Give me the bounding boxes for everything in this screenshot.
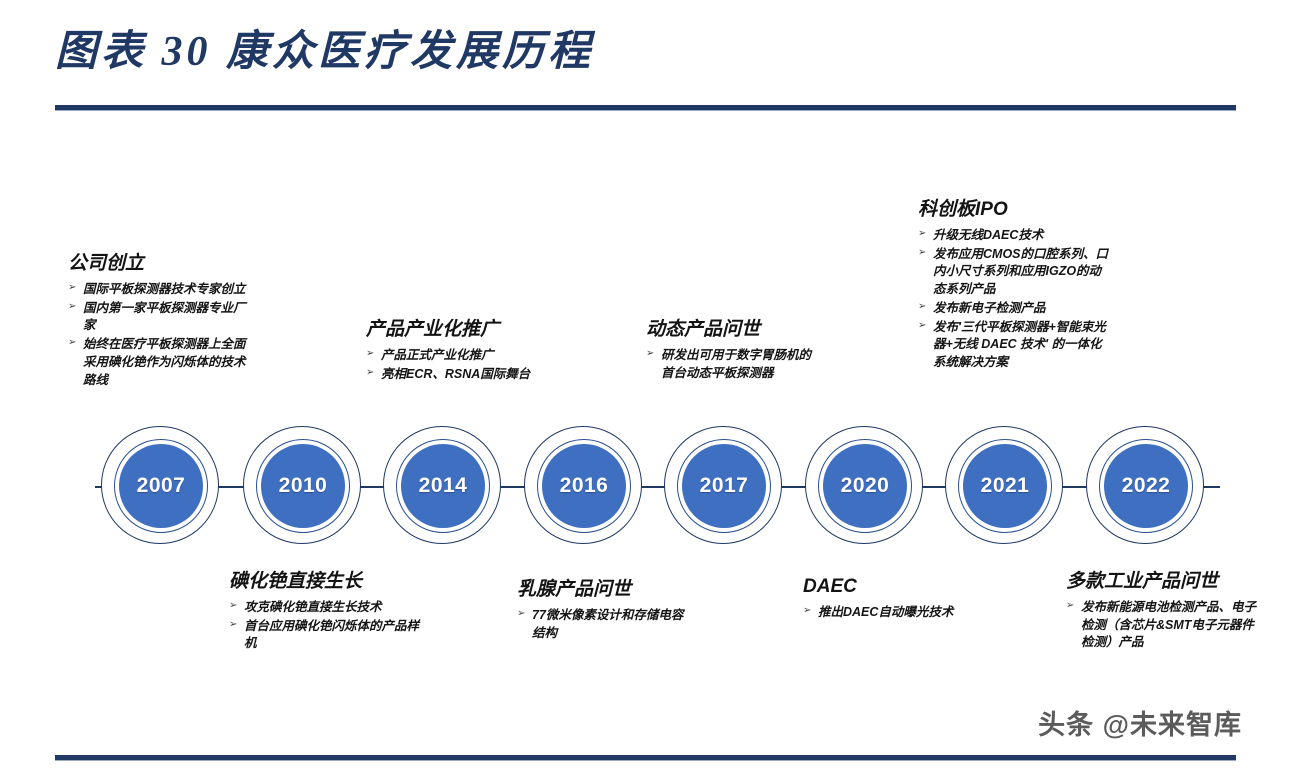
timeline-node-2007[interactable]: 2007	[101, 426, 221, 546]
annotation-bullet-list: 产品正式产业化推广亮相ECR、RSNA国际舞台	[366, 347, 551, 384]
timeline-diagram: 20072010201420162017202020212022公司创立国际平板…	[0, 0, 1290, 776]
annotation-bullet: 攻克碘化铯直接生长技术	[229, 599, 429, 617]
annotation-bullet: 研发出可用于数字胃肠机的首台动态平板探测器	[646, 347, 811, 383]
timeline-node-2022[interactable]: 2022	[1086, 426, 1206, 546]
node-disc: 2016	[542, 444, 626, 528]
annotation-title: DAEC	[803, 575, 963, 599]
bottom-divider	[55, 755, 1236, 761]
annotation-bullet: 发布新电子检测产品	[918, 300, 1108, 318]
annotation-title: 多款工业产品问世	[1066, 570, 1266, 594]
node-disc: 2014	[401, 444, 485, 528]
node-year-label: 2021	[981, 474, 1030, 498]
annotation-title: 产品产业化推广	[366, 318, 551, 342]
annotation-bullet: 发布'三代平板探测器+智能束光器+无线 DAEC 技术' 的一体化系统解决方案	[918, 319, 1108, 372]
annotation-bullet: 发布新能源电池检测产品、电子检测（含芯片&SMT电子元器件检测）产品	[1066, 599, 1266, 652]
annotation-bullet-list: 发布新能源电池检测产品、电子检测（含芯片&SMT电子元器件检测）产品	[1066, 599, 1266, 652]
watermark-label: 头条 @未来智库	[1038, 703, 1242, 742]
timeline-node-2014[interactable]: 2014	[383, 426, 503, 546]
annotation-title: 公司创立	[68, 252, 253, 276]
annotation-dynamic-product: 动态产品问世研发出可用于数字胃肠机的首台动态平板探测器	[646, 318, 811, 383]
node-year-label: 2017	[700, 474, 749, 498]
node-disc: 2010	[261, 444, 345, 528]
node-disc: 2022	[1104, 444, 1188, 528]
annotation-bullet: 始终在医疗平板探测器上全面采用碘化铯作为闪烁体的技术路线	[68, 336, 253, 389]
annotation-csi-growth: 碘化铯直接生长攻克碘化铯直接生长技术首台应用碘化铯闪烁体的产品样机	[229, 570, 429, 654]
annotation-title: 乳腺产品问世	[517, 578, 692, 602]
node-year-label: 2010	[279, 474, 328, 498]
annotation-bullet-list: 研发出可用于数字胃肠机的首台动态平板探测器	[646, 347, 811, 383]
annotation-bullet-list: 升级无线DAEC技术发布应用CMOS的口腔系列、口内小尺寸系列和应用IGZO的动…	[918, 227, 1108, 372]
annotation-industrialization: 产品产业化推广产品正式产业化推广亮相ECR、RSNA国际舞台	[366, 318, 551, 384]
annotation-bullet-list: 77微米像素设计和存储电容结构	[517, 607, 692, 643]
timeline-node-2021[interactable]: 2021	[945, 426, 1065, 546]
node-disc: 2021	[963, 444, 1047, 528]
annotation-founding: 公司创立国际平板探测器技术专家创立国内第一家平板探测器专业厂家始终在医疗平板探测…	[68, 252, 253, 390]
annotation-daec: DAEC推出DAEC自动曝光技术	[803, 575, 963, 623]
node-year-label: 2022	[1122, 474, 1171, 498]
node-disc: 2020	[823, 444, 907, 528]
annotation-title: 动态产品问世	[646, 318, 811, 342]
annotation-bullet: 国内第一家平板探测器专业厂家	[68, 300, 253, 336]
annotation-bullet: 亮相ECR、RSNA国际舞台	[366, 366, 551, 384]
node-disc: 2017	[682, 444, 766, 528]
node-year-label: 2016	[560, 474, 609, 498]
node-year-label: 2007	[137, 474, 186, 498]
annotation-bullet: 77微米像素设计和存储电容结构	[517, 607, 692, 643]
annotation-bullet: 发布应用CMOS的口腔系列、口内小尺寸系列和应用IGZO的动态系列产品	[918, 246, 1108, 299]
annotation-mammography: 乳腺产品问世77微米像素设计和存储电容结构	[517, 578, 692, 643]
annotation-title: 科创板IPO	[918, 198, 1108, 222]
annotation-bullet-list: 国际平板探测器技术专家创立国内第一家平板探测器专业厂家始终在医疗平板探测器上全面…	[68, 281, 253, 390]
node-year-label: 2014	[419, 474, 468, 498]
timeline-node-2020[interactable]: 2020	[805, 426, 925, 546]
annotation-bullet: 产品正式产业化推广	[366, 347, 551, 365]
node-year-label: 2020	[841, 474, 890, 498]
annotation-bullet: 推出DAEC自动曝光技术	[803, 604, 963, 622]
annotation-industrial-products: 多款工业产品问世发布新能源电池检测产品、电子检测（含芯片&SMT电子元器件检测）…	[1066, 570, 1266, 653]
timeline-node-2016[interactable]: 2016	[524, 426, 644, 546]
annotation-bullet-list: 推出DAEC自动曝光技术	[803, 604, 963, 622]
node-disc: 2007	[119, 444, 203, 528]
annotation-bullet: 国际平板探测器技术专家创立	[68, 281, 253, 299]
timeline-node-2010[interactable]: 2010	[243, 426, 363, 546]
timeline-node-2017[interactable]: 2017	[664, 426, 784, 546]
annotation-star-market-ipo: 科创板IPO升级无线DAEC技术发布应用CMOS的口腔系列、口内小尺寸系列和应用…	[918, 198, 1108, 373]
annotation-title: 碘化铯直接生长	[229, 570, 429, 594]
slide-canvas: 图表 30 康众医疗发展历程 2007201020142016201720202…	[0, 0, 1290, 776]
annotation-bullet: 升级无线DAEC技术	[918, 227, 1108, 245]
annotation-bullet-list: 攻克碘化铯直接生长技术首台应用碘化铯闪烁体的产品样机	[229, 599, 429, 653]
annotation-bullet: 首台应用碘化铯闪烁体的产品样机	[229, 618, 429, 654]
